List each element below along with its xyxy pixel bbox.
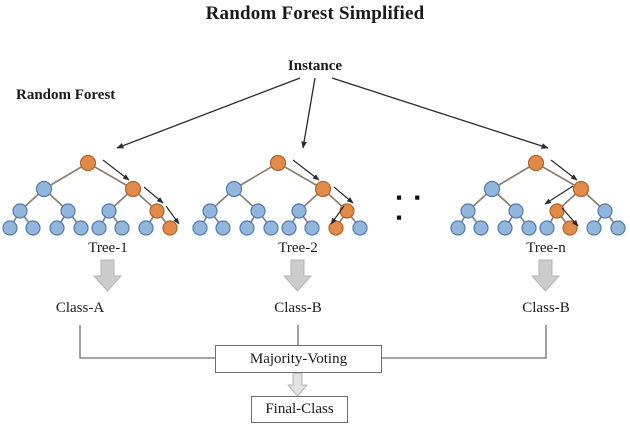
tree-1-node-lr: [61, 204, 75, 218]
block-arrow-tree-2: [284, 260, 311, 291]
tree-2-leaf-1: [193, 221, 207, 235]
tree-n-leaf-8: [611, 221, 625, 235]
tree-n-node-r: [574, 182, 589, 197]
tree-1-group: [3, 156, 179, 236]
tree-n-node-rr: [598, 204, 612, 218]
tree-2-prediction-label: Class-B: [228, 300, 368, 317]
tree-1-leaf-4: [74, 221, 88, 235]
tree-1-leaf-7: [139, 221, 153, 235]
tree-n-node-lr: [509, 204, 523, 218]
tree-n-leaf-7: [587, 221, 601, 235]
tree-1-node-l: [37, 182, 52, 197]
tree-n-root-node: [529, 156, 544, 171]
tree-2-leaf-4: [264, 221, 278, 235]
tree-n-node-ll: [461, 204, 475, 218]
tree-1-leaf-5: [92, 221, 106, 235]
tree-2-group: [193, 156, 367, 236]
tree-1-root-node: [81, 156, 96, 171]
tree-n-leaf-3: [498, 221, 512, 235]
tree-n-nodes: [451, 156, 625, 236]
instance-distribution-arrows: [117, 78, 548, 148]
tree-2-root-node: [271, 156, 286, 171]
tree-n-label: Tree-n: [476, 240, 616, 257]
tree-2-label: Tree-2: [228, 240, 368, 257]
tree-1-nodes: [3, 156, 177, 236]
tree-2-nodes: [193, 156, 367, 236]
tree-to-class-block-arrows: [94, 260, 559, 291]
tree-2-node-rl: [292, 204, 306, 218]
tree-2-node-ll: [203, 204, 217, 218]
tree-1-leaf-1: [3, 221, 17, 235]
tree-2-leaf-6: [305, 221, 319, 235]
block-arrow-final-class: [288, 373, 307, 396]
tree-2-edges: [200, 163, 360, 228]
tree-1-node-r: [126, 182, 141, 197]
tree-n-group: [451, 156, 625, 236]
connector-class-a: [80, 325, 215, 358]
tree-2-node-l: [227, 182, 242, 197]
tree-1-node-rr: [150, 204, 164, 218]
tree-n-leaf-1: [451, 221, 465, 235]
tree-2-leaf-2: [216, 221, 230, 235]
tree-n-leaf-2: [474, 221, 488, 235]
tree-1-leaf-8: [163, 221, 177, 235]
block-arrow-tree-n: [532, 260, 559, 291]
tree-2-leaf-5: [282, 221, 296, 235]
tree-1-leaf-3: [50, 221, 64, 235]
block-arrow-tree-1: [94, 260, 121, 291]
tree-1-leaf-2: [26, 221, 40, 235]
ellipsis-more-trees: ▪ ▪ ▪: [396, 188, 436, 228]
tree-n-leaf-4: [522, 221, 536, 235]
tree-2-node-lr: [251, 204, 265, 218]
final-class-box: Final-Class: [251, 396, 348, 423]
tree-1-leaf-6: [115, 221, 129, 235]
tree-2-node-rr: [340, 204, 354, 218]
tree-1-node-ll: [13, 204, 27, 218]
tree-n-node-rl: [550, 204, 564, 218]
tree-n-prediction-label: Class-B: [476, 300, 616, 317]
tree-n-edges: [458, 163, 618, 228]
majority-voting-box: Majority-Voting: [215, 345, 382, 373]
connector-class-b-n: [380, 325, 546, 358]
diagram-canvas: Random Forest Simplified Random Forest I…: [0, 0, 630, 429]
tree-n-node-l: [485, 182, 500, 197]
tree-2-leaf-8: [353, 221, 367, 235]
tree-n-leaf-5: [540, 221, 554, 235]
tree-1-node-rl: [102, 204, 116, 218]
tree-2-leaf-3: [240, 221, 254, 235]
tree-1-prediction-label: Class-A: [10, 300, 150, 317]
tree-1-label: Tree-1: [38, 240, 178, 257]
tree-2-node-r: [316, 182, 331, 197]
tree-1-edges: [10, 163, 170, 228]
